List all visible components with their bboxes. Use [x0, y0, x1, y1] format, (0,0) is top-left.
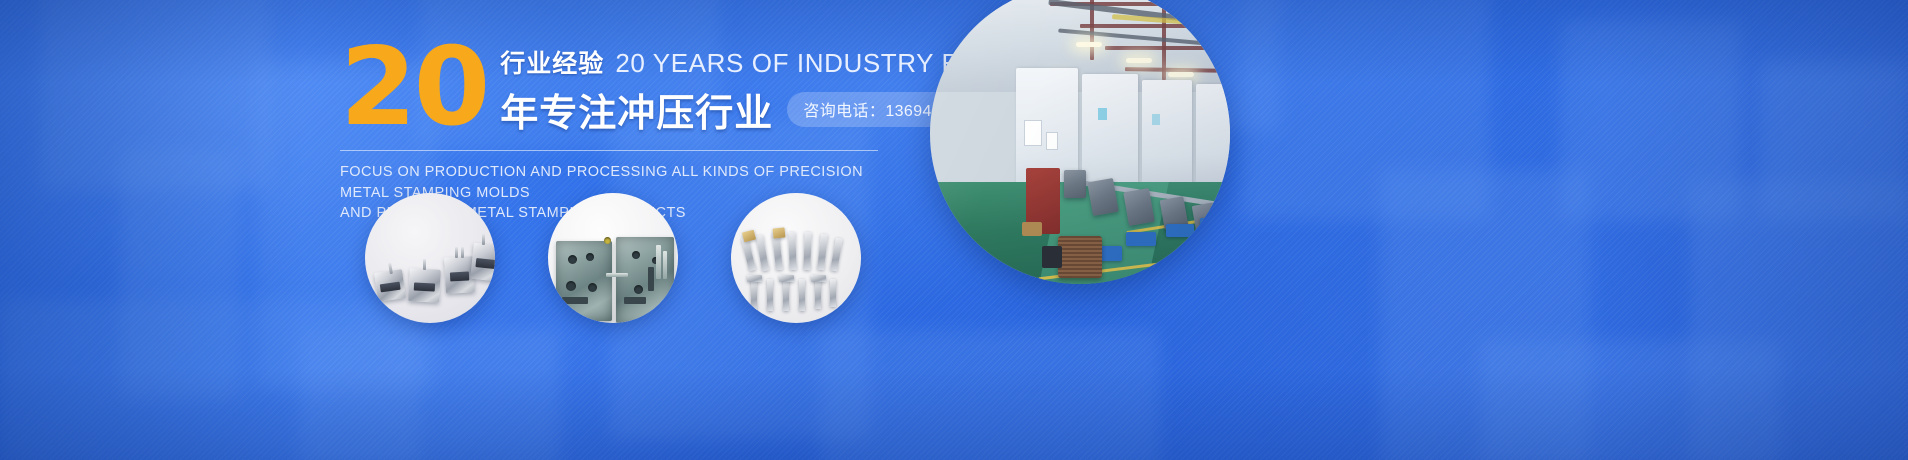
promo-banner: 20 行业经验 20 YEARS OF INDUSTRY EXPERIENCE …: [0, 0, 1908, 460]
factory-photo-inner: [930, 0, 1230, 284]
cn-headline-text: 年专注冲压行业: [500, 82, 773, 137]
factory-photo-circle[interactable]: [930, 0, 1230, 284]
cn-eyebrow-text: 行业经验: [500, 44, 604, 80]
product-circle-terminal-pins[interactable]: [731, 193, 861, 323]
years-number: 20: [340, 42, 487, 135]
product-circle-connector-shells[interactable]: [365, 193, 495, 323]
product-thumbnail-row: [365, 193, 861, 323]
horizontal-divider: [340, 150, 878, 151]
headline-row: 20 行业经验 20 YEARS OF INDUSTRY EXPERIENCE …: [340, 38, 900, 137]
product-circle-stamping-mould[interactable]: [548, 193, 678, 323]
